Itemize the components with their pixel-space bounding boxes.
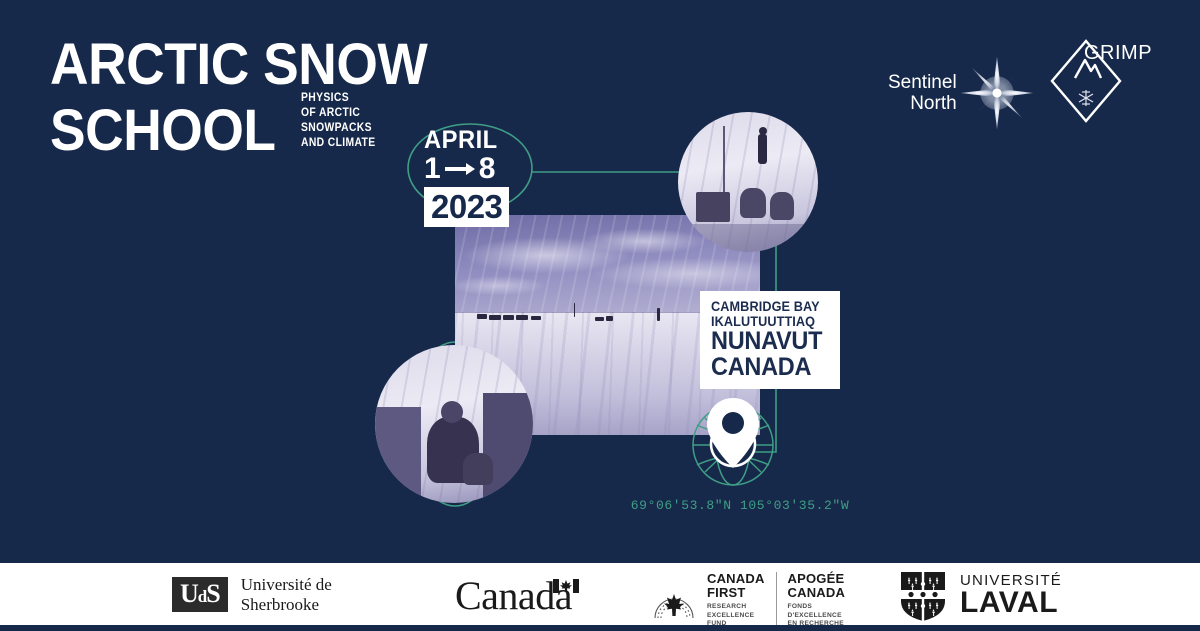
group-silhouette (595, 317, 604, 321)
uds-monogram: UdS (172, 577, 228, 612)
logo-universite-sherbrooke[interactable]: UdS Université de Sherbrooke (172, 575, 332, 614)
gear-bag (463, 453, 493, 485)
cfref-french-block: APOGÉE CANADA FONDS D'EXCELLENCE EN RECH… (776, 572, 846, 629)
logo-canada-first-research-excellence-fund[interactable]: CANADA FIRST RESEARCH EXCELLENCE FUND AP… (650, 572, 845, 629)
uds-wordmark: Université de Sherbrooke (241, 575, 332, 614)
sentinel-north-line-2: North (888, 93, 957, 114)
map-pin-hole (722, 412, 744, 434)
location-city-en: CAMBRIDGE BAY (711, 299, 822, 314)
kneeling-person-head (441, 401, 463, 423)
title-line-1: ARCTIC SNOW (50, 38, 427, 91)
convoy-silhouette (531, 316, 541, 320)
snowflake-icon (1079, 90, 1093, 106)
date-day-start: 1 (424, 153, 441, 185)
cfref-wordmark: CANADA FIRST RESEARCH EXCELLENCE FUND AP… (707, 572, 845, 629)
location-label: CAMBRIDGE BAY IKALUTUUTTIAQ NUNAVUT CANA… (700, 291, 840, 389)
logo-universite-laval[interactable]: UNIVERSITÉ LAVAL (898, 570, 1062, 622)
convoy-silhouette (489, 315, 501, 320)
uds-letter-d: d (198, 587, 206, 606)
arrow-right-icon (445, 163, 475, 174)
grimp-wordmark: GRIMP (1084, 42, 1152, 65)
subtitle-line: SNOWPACKS (301, 121, 375, 136)
laval-wordmark: UNIVERSITÉ LAVAL (960, 573, 1062, 619)
subtitle-line: PHYSICS (301, 91, 375, 106)
mast-silhouette (574, 303, 575, 317)
cfref-en-line-2: FIRST (707, 586, 765, 600)
uds-name-line-2: Sherbrooke (241, 595, 332, 615)
instrument-case (696, 192, 730, 222)
location-territory: NUNAVUT (711, 329, 822, 355)
group-silhouette (606, 316, 613, 321)
uds-letter-s: S (206, 579, 219, 608)
page-title: ARCTIC SNOW SCHOOL PHYSICS OF ARCTIC SNO… (50, 38, 460, 157)
snow-wall-left (375, 407, 421, 503)
laval-line-2: LAVAL (960, 588, 1062, 619)
cfref-fr-line-2: CANADA (788, 586, 846, 600)
date-range: 1 8 (424, 153, 516, 185)
cfref-fr-sub-2: D'EXCELLENCE (788, 612, 846, 621)
lone-figure-silhouette (657, 308, 660, 321)
logo-government-of-canada[interactable]: Canada (455, 576, 579, 616)
compass-star-icon (959, 55, 1035, 131)
gps-coordinates: 69°06'53.8"N 105°03'35.2"W (600, 498, 880, 513)
grimp-logo[interactable]: GRIMP (1048, 38, 1124, 129)
snow-shadow (678, 224, 818, 252)
mast-pole (723, 126, 725, 192)
uds-letter-u: U (180, 579, 198, 608)
canada-wordmark: Canada (455, 576, 572, 616)
cfref-en-line-1: CANADA (707, 572, 765, 586)
cfref-en-sub-1: RESEARCH (707, 603, 765, 612)
geo-marker-group (683, 398, 783, 490)
date-year: 2023 (424, 187, 509, 227)
location-country: CANADA (711, 355, 822, 381)
date-day-end: 8 (479, 153, 496, 185)
convoy-silhouette (503, 315, 514, 320)
laval-crest-icon (898, 570, 948, 622)
snow-wall-right (483, 393, 533, 503)
convoy-silhouette (477, 314, 487, 319)
convoy-silhouette (516, 315, 528, 320)
footer-bottom-strip (0, 625, 1200, 631)
circle-photo-equipment (678, 112, 818, 252)
sentinel-north-logo[interactable]: Sentinel North (888, 55, 1035, 131)
title-subtitle: PHYSICS OF ARCTIC SNOWPACKS AND CLIMATE (301, 91, 375, 150)
standing-person-silhouette (758, 134, 767, 164)
partner-logo-bar: UdS Université de Sherbrooke Canada (0, 563, 1200, 625)
crouching-person-silhouette (770, 192, 794, 220)
subtitle-line: OF ARCTIC (301, 106, 375, 121)
cfref-fr-sub-1: FONDS (788, 603, 846, 612)
cfref-maple-arc-icon (650, 580, 698, 622)
title-line-2: SCHOOL (50, 104, 276, 157)
cfref-fr-line-1: APOGÉE (788, 572, 846, 586)
cfref-english-block: CANADA FIRST RESEARCH EXCELLENCE FUND (707, 572, 776, 629)
cfref-en-sub-2: EXCELLENCE (707, 612, 765, 621)
sentinel-north-line-1: Sentinel (888, 72, 957, 93)
sentinel-north-wordmark: Sentinel North (888, 72, 957, 115)
title-row-2: SCHOOL PHYSICS OF ARCTIC SNOWPACKS AND C… (50, 91, 460, 157)
uds-name-line-1: Université de (241, 575, 332, 595)
poster-canvas: APRIL 1 8 2023 ARCTIC SNOW SCHOOL PHYSIC… (0, 0, 1200, 631)
subtitle-line: AND CLIMATE (301, 136, 375, 151)
crouching-person-silhouette (740, 188, 766, 218)
circle-photo-researcher (375, 345, 533, 503)
standing-person-head (759, 127, 767, 135)
